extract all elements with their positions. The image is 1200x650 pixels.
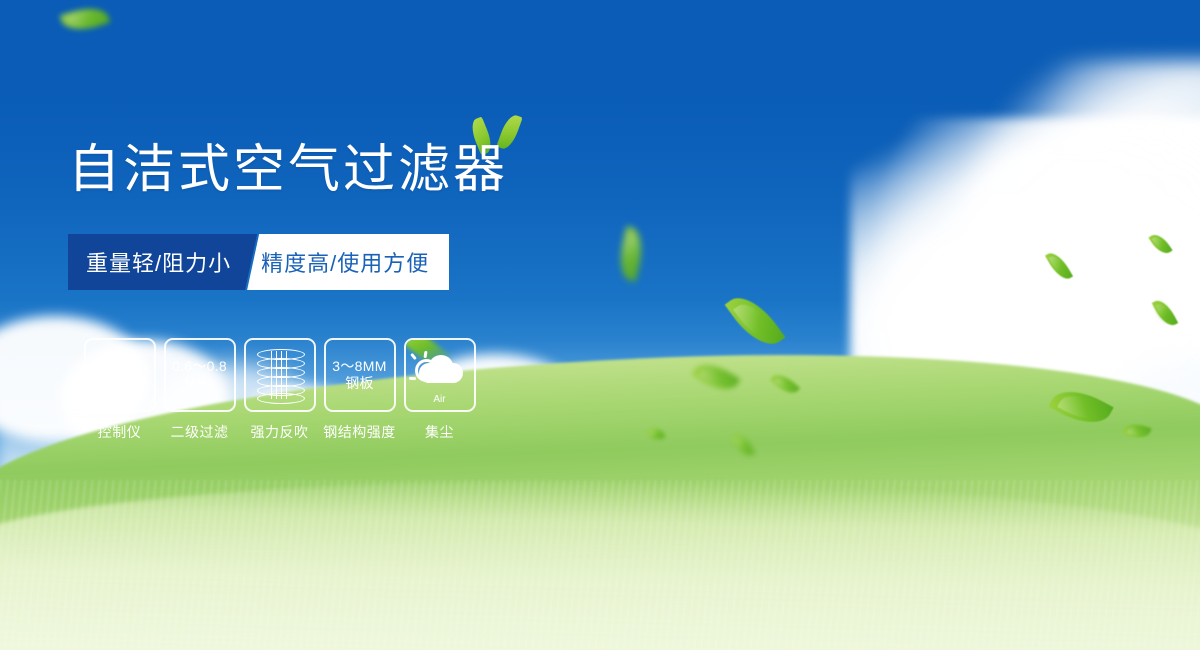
subtitle-tag-group: 重量轻/阻力小 精度高/使用方便 — [68, 234, 449, 290]
feature-item-steel[interactable]: 3～8MM 钢板 钢结构强度 — [322, 338, 397, 442]
feature-item-dust[interactable]: Air 集尘 — [402, 338, 477, 442]
floating-leaf — [60, 1, 111, 36]
feature-icon-box — [244, 338, 316, 412]
pressure-range: 0.6～0.8 — [172, 358, 227, 376]
feature-list: NO OFF 控制仪 0.6～0.8 MPA 二级过滤 — [82, 338, 477, 442]
air-label: Air — [411, 394, 469, 405]
tag-right: 精度高/使用方便 — [247, 234, 449, 290]
feature-item-controller[interactable]: NO OFF 控制仪 — [82, 338, 157, 442]
steel-plate-icon: 3～8MM 钢板 — [332, 358, 386, 393]
feature-icon-box: Air — [404, 338, 476, 412]
dial-label-off: OFF — [135, 391, 148, 397]
pressure-unit: MPA — [172, 375, 227, 393]
coil-filter-icon — [257, 349, 303, 401]
feature-label: 控制仪 — [98, 422, 142, 442]
feature-label: 集尘 — [425, 422, 454, 442]
product-banner: 自洁式空气过滤器 重量轻/阻力小 精度高/使用方便 — [0, 0, 1200, 650]
page-title: 自洁式空气过滤器 — [68, 144, 508, 196]
floating-leaf — [614, 226, 648, 282]
gauge-dial-icon: NO OFF — [92, 347, 148, 403]
feature-label: 强力反吹 — [251, 422, 309, 442]
feature-icon-box: 3～8MM 钢板 — [324, 338, 396, 412]
grass-texture — [0, 480, 1200, 650]
feature-label: 二级过滤 — [171, 422, 229, 442]
dial-label-no: NO — [91, 369, 101, 375]
feature-item-backblow[interactable]: 强力反吹 — [242, 338, 317, 442]
feature-label: 钢结构强度 — [323, 422, 396, 442]
air-cloud-icon: Air — [411, 349, 469, 401]
feature-icon-box: NO OFF — [84, 338, 156, 412]
tag-left: 重量轻/阻力小 — [68, 234, 257, 290]
steel-thickness: 3～8MM — [332, 358, 386, 376]
cloud-body — [419, 363, 463, 383]
steel-material: 钢板 — [332, 375, 386, 393]
pressure-value-icon: 0.6～0.8 MPA — [172, 358, 227, 393]
feature-item-filtration[interactable]: 0.6～0.8 MPA 二级过滤 — [162, 338, 237, 442]
feature-icon-box: 0.6～0.8 MPA — [164, 338, 236, 412]
